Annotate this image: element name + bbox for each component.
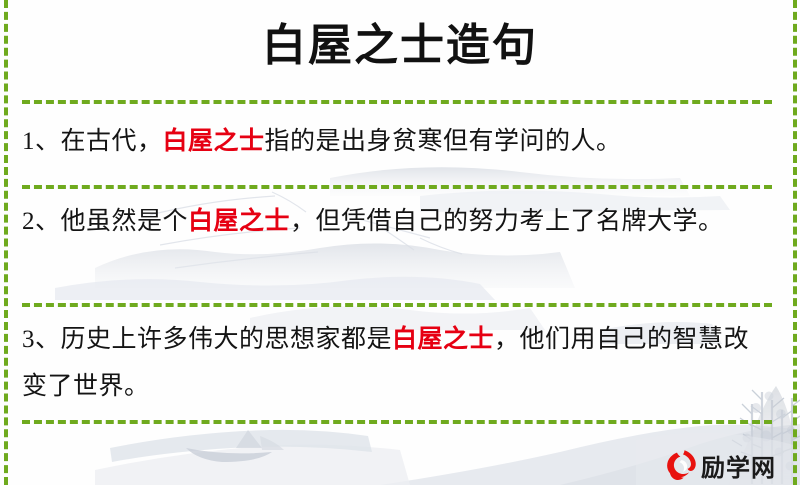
sentence-after-1: 指的是出身贫寒但有学问的人。 bbox=[265, 128, 622, 155]
separator-3 bbox=[22, 303, 772, 307]
watermark-boat bbox=[186, 430, 284, 462]
keyword-2: 白屋之士 bbox=[188, 208, 290, 235]
sentence-item-3: 3、历史上许多伟大的思想家都是白屋之士，他们用自己的智慧改变了世界。 bbox=[22, 316, 774, 410]
keyword-1: 白屋之士 bbox=[163, 128, 265, 155]
separator-4 bbox=[22, 420, 772, 424]
sentence-before-3: 历史上许多伟大的思想家都是 bbox=[61, 326, 393, 353]
sentence-sheet: 白屋之士造句 1、在古代，白屋之士指的是出身贫寒但有学问的人。 2、他虽然是个白… bbox=[0, 0, 800, 485]
sentence-index-2: 2、 bbox=[22, 208, 61, 235]
separator-1 bbox=[22, 100, 772, 104]
separator-2 bbox=[22, 185, 772, 189]
sentence-after-2: ，但凭借自己的努力考上了名牌大学。 bbox=[290, 208, 724, 235]
sentence-index-3: 3、 bbox=[22, 326, 61, 353]
keyword-3: 白屋之士 bbox=[392, 326, 494, 353]
site-logo[interactable]: 励学网 bbox=[664, 446, 776, 484]
sentence-before-2: 他虽然是个 bbox=[61, 208, 189, 235]
page-title: 白屋之士造句 bbox=[0, 18, 800, 74]
sentence-item-2: 2、他虽然是个白屋之士，但凭借自己的努力考上了名牌大学。 bbox=[22, 198, 774, 245]
sentence-index-1: 1、 bbox=[22, 128, 61, 155]
site-logo-text: 励学网 bbox=[701, 448, 776, 483]
sentence-item-1: 1、在古代，白屋之士指的是出身贫寒但有学问的人。 bbox=[22, 118, 774, 165]
red-swirl-flame-icon bbox=[664, 448, 698, 482]
sentence-before-1: 在古代， bbox=[61, 128, 163, 155]
